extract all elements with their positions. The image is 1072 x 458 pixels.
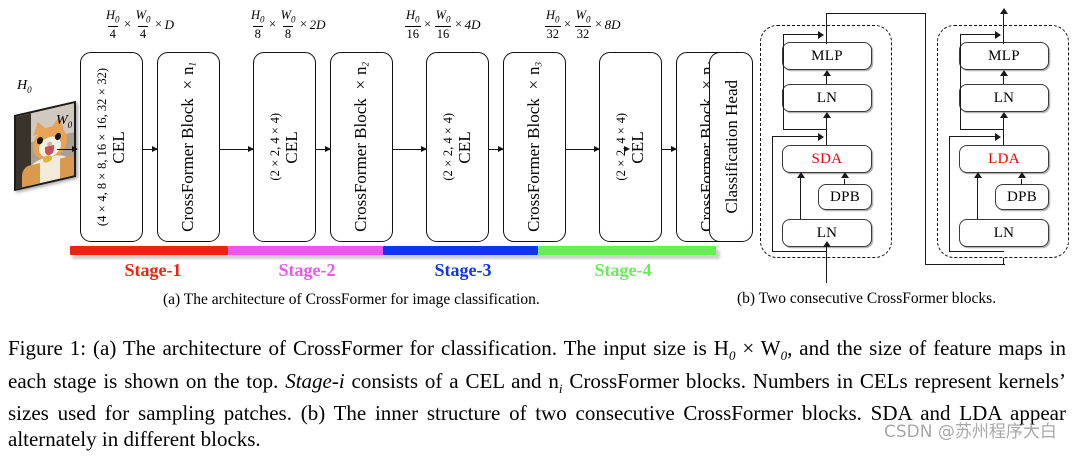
block-crossformer-1-label: CrossFormer Block ×n1 (179, 62, 197, 232)
arrow-cel1-to-cfb1 (143, 149, 157, 150)
size-label-stage-3: H016 × W016 ×4D (404, 9, 480, 40)
wire-left-sda-to-ln2-arrow (823, 112, 831, 118)
wire-right-lda-to-ln2 (1003, 118, 1004, 145)
block-crossformer-2-label: CrossFormer Block ×n2 (352, 62, 370, 232)
wire-right-ln1-to-lda (977, 178, 978, 219)
wire-left-res2-vert (783, 34, 784, 130)
caption-italic-1: Stage-i (285, 369, 344, 393)
sda-box-left[interactable]: SDA (782, 145, 872, 173)
wire-right-res2-bottom (960, 129, 1004, 130)
wire-left-res1-vert (772, 136, 773, 252)
size-label-stage-1: H04 × W04 ×D (104, 9, 174, 40)
dpb-label-right: DPB (1007, 189, 1037, 206)
block-cel-2-kernels: (2×2, 4×4) (269, 113, 282, 181)
stage-bar-1 (70, 246, 228, 255)
block-cel-1-kernels: (4×4, 8×8, 16×16, 32×32) (96, 68, 109, 226)
block-cel-3-label: CEL (456, 131, 473, 164)
dpb-label-left: DPB (830, 189, 860, 206)
wire-right-res2-arrow (995, 31, 1001, 39)
ln-top-box-right[interactable]: LN (959, 84, 1049, 112)
block-classification-head[interactable]: Classification Head (709, 52, 753, 242)
block-crossformer-3-label: CrossFormer Block ×n3 (525, 62, 543, 232)
wire-bridge-vert (925, 13, 926, 265)
wire-left-dpb-to-sda (844, 179, 845, 185)
wire-right-res1-bottom (949, 251, 1004, 252)
wire-left-input-arrow (823, 241, 831, 247)
ln-top-box-left[interactable]: LN (782, 84, 872, 112)
stage-label-1: Stage-1 (108, 260, 198, 281)
wire-right-dpb-to-lda (1021, 179, 1022, 185)
wire-left-dpb-arrow (841, 172, 849, 178)
mlp-label-left: MLP (811, 48, 843, 65)
wire-left-res1-top (772, 136, 820, 137)
wire-left-output-vert (826, 13, 827, 44)
wire-left-sda-to-ln2 (826, 118, 827, 145)
wire-right-ln2-to-mlp (1003, 76, 1004, 84)
dpb-box-right[interactable]: DPB (995, 184, 1049, 210)
input-height-label: H0 (17, 78, 32, 95)
block-cel-3[interactable]: CEL (2×2, 4×4) (426, 52, 489, 242)
caption-part-2: × W (735, 336, 780, 360)
lda-label: LDA (988, 151, 1020, 168)
panel-a-caption: (a) The architecture of CrossFormer for … (163, 291, 540, 309)
ln-top-label-right: LN (994, 90, 1015, 107)
block-crossformer-2[interactable]: CrossFormer Block ×n2 (330, 52, 393, 242)
arrow-cfb1-to-cel2 (220, 149, 253, 150)
arrow-input-to-cel1 (57, 149, 77, 150)
block-crossformer-1[interactable]: CrossFormer Block ×n1 (157, 52, 220, 242)
wire-left-res2-top (783, 34, 820, 35)
wire-bridge-bottom (925, 264, 1005, 265)
wire-right-ln2-to-mlp-arrow (1000, 70, 1008, 76)
wire-left-ln1-to-sda-arrow (797, 172, 805, 178)
wire-left-ln1-to-sda (800, 178, 801, 219)
block-cel-3-kernels: (2×2, 4×4) (442, 113, 455, 181)
wire-right-ln1-to-lda-arrow (974, 172, 982, 178)
stage-label-4: Stage-4 (578, 260, 668, 281)
wire-left-res2-bottom (783, 129, 827, 130)
block-cel-2-label: CEL (283, 131, 300, 164)
block-cel-4-label: CEL (629, 131, 646, 164)
block-classification-head-label: Classification Head (723, 80, 740, 214)
block-cel-2[interactable]: CEL (2×2, 4×4) (253, 52, 316, 242)
panel-b-caption: (b) Two consecutive CrossFormer blocks. (737, 290, 996, 308)
wire-left-ln2-to-mlp (826, 76, 827, 84)
stage-label-3: Stage-3 (418, 260, 508, 281)
wire-right-dpb-arrow (1018, 172, 1026, 178)
wire-bridge-top (826, 13, 926, 14)
block-cel-4[interactable]: CEL (2×2, 4×4) (599, 52, 662, 242)
caption-part-1: Figure 1: (a) The architecture of CrossF… (8, 336, 729, 360)
arrow-cfb2-to-cel3 (393, 149, 426, 150)
sda-label: SDA (812, 151, 843, 168)
caption-part-4: consists of a CEL and n (345, 369, 559, 393)
input-width-label: W0 (56, 113, 72, 130)
wire-left-res1-arrow (818, 133, 824, 141)
mlp-box-right[interactable]: MLP (959, 42, 1049, 70)
arrow-cel4-to-cfb4 (662, 149, 676, 150)
size-label-stage-4: H032 × W032 ×8D (544, 9, 620, 40)
wire-right-lda-to-ln2-arrow (1000, 112, 1008, 118)
wire-left-res2-arrow (818, 31, 824, 39)
wire-right-output-arrow (1000, 8, 1008, 14)
wire-left-res1-bottom (772, 251, 827, 252)
wire-right-res1-arrow (995, 133, 1001, 141)
watermark-text: CSDN @苏州程序大白 (884, 417, 1057, 442)
wire-left-input-stem (826, 247, 827, 283)
ln-bottom-box-right[interactable]: LN (959, 219, 1049, 247)
size-label-stage-2: H08 × W08 ×2D (249, 9, 325, 40)
mlp-label-right: MLP (988, 48, 1020, 65)
block-crossformer-3[interactable]: CrossFormer Block ×n3 (503, 52, 566, 242)
ln-bottom-label-left: LN (817, 225, 838, 242)
dpb-box-left[interactable]: DPB (818, 184, 872, 210)
wire-right-res2-top (960, 34, 997, 35)
figure-container: H0 W0 H04 × W04 ×D H08 × W08 ×2D H016 × … (0, 0, 1072, 458)
ln-top-label-left: LN (817, 90, 838, 107)
stage-bar-4 (538, 246, 716, 255)
wire-right-output-vert (1003, 14, 1004, 44)
mlp-box-left[interactable]: MLP (782, 42, 872, 70)
arrow-cfb3-to-cel4 (566, 149, 599, 150)
wire-right-res1-top (949, 136, 997, 137)
ln-bottom-label-right: LN (994, 225, 1015, 242)
lda-box-right[interactable]: LDA (959, 145, 1049, 173)
stage-bar-3 (383, 246, 538, 255)
stage-bar-2 (228, 246, 383, 255)
arrow-cel2-to-cfb2 (316, 149, 330, 150)
wire-right-res2-vert (960, 34, 961, 130)
arrow-cel3-to-cfb3 (489, 149, 503, 150)
wire-left-ln2-to-mlp-arrow (823, 70, 831, 76)
stage-label-2: Stage-2 (262, 260, 352, 281)
wire-right-res1-vert (949, 136, 950, 252)
block-cel-1-label: CEL (110, 131, 127, 164)
block-cel-1[interactable]: CEL (4×4, 8×8, 16×16, 32×32) (80, 52, 143, 242)
